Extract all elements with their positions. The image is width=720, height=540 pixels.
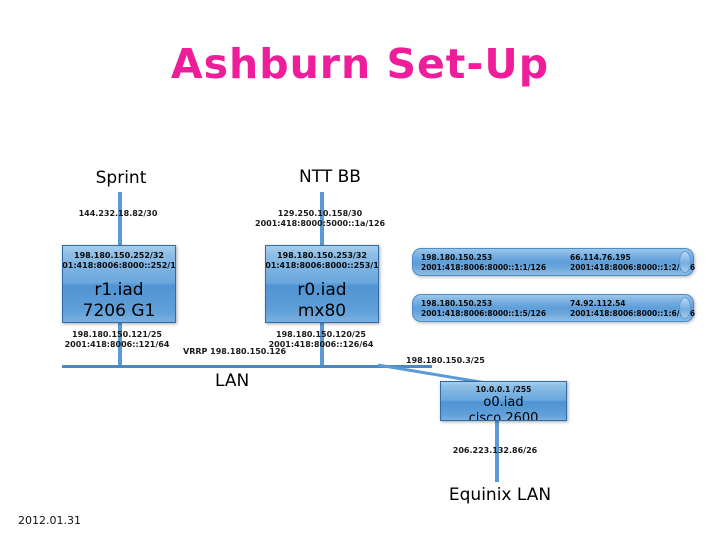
page-title: Ashburn Set-Up [0,40,720,88]
uplink-ntt-ipv4: 129.250.10.158/30 [255,209,385,219]
peering-bar-2[interactable]: 198.180.150.253 2001:418:8006:8000::1:5/… [412,294,694,322]
peering-bar-1-local: 198.180.150.253 2001:418:8006:8000::1:1/… [421,253,546,273]
r1-lan-addresses: 198.180.150.121/25 2001:418:8006::121/64 [52,330,182,350]
o0-mgmt-address: 10.0.0.1 /255 [476,385,532,395]
o0-name: o0.iad [483,395,523,411]
router-box-o0-iad[interactable]: 10.0.0.1 /255 o0.iad cisco 2600 [440,381,567,421]
peering-1-local-v4: 198.180.150.253 [421,253,546,263]
router-box-r0-iad[interactable]: 198.180.150.253/32 2001:418:8006:8000::2… [265,245,379,323]
provider-label-ntt: NTT BB [270,167,390,187]
o0-model: cisco 2600 [469,411,539,421]
peering-1-remote-v4: 66.114.76.195 [570,253,695,263]
r0-loopback-v6: 2001:418:8006:8000::253/128 [265,261,379,271]
r1-lan-v4: 198.180.150.121/25 [52,330,182,340]
peering-2-remote-v6: 2001:418:8006:8000::1:6/126 [570,309,695,319]
equinix-uplink-label: 206.223.132.86/26 [440,446,550,456]
r1-name: r1.iad [94,280,143,301]
oob-link-label: 198.180.150.3/25 [406,356,516,366]
r0-model: mx80 [298,301,346,322]
uplink-label-sprint: 144.232.18.82/30 [53,209,183,219]
uplink-ntt-ipv6: 2001:418:8000:5000::1a/126 [255,219,385,229]
vrrp-label: VRRP 198.180.150.126 [183,347,333,357]
footer-date: 2012.01.31 [18,514,81,527]
peering-1-remote-v6: 2001:418:8006:8000::1:2/126 [570,263,695,273]
lan-bus-line [62,365,432,368]
peering-bar-1-remote: 66.114.76.195 2001:418:8006:8000::1:2/12… [570,253,695,273]
provider-label-equinix: Equinix LAN [440,485,560,505]
uplink-label-ntt: 129.250.10.158/30 2001:418:8000:5000::1a… [255,209,385,229]
peering-bar-2-end-cap [679,297,691,319]
r0-loopback-v4: 198.180.150.253/32 [277,251,367,261]
peering-2-local-v4: 198.180.150.253 [421,299,546,309]
peering-1-local-v6: 2001:418:8006:8000::1:1/126 [421,263,546,273]
r1-loopback-v6: 2001:418:8006:8000::252/128 [62,261,176,271]
link-sprint-to-r1 [118,192,122,247]
lan-label: LAN [215,371,249,391]
peering-bar-2-local: 198.180.150.253 2001:418:8006:8000::1:5/… [421,299,546,319]
r0-lan-v4: 198.180.150.120/25 [256,330,386,340]
peering-bar-1[interactable]: 198.180.150.253 2001:418:8006:8000::1:1/… [412,248,694,276]
peering-bar-1-end-cap [679,251,691,273]
r1-lan-v6: 2001:418:8006::121/64 [52,340,182,350]
provider-label-sprint: Sprint [66,168,176,188]
peering-2-remote-v4: 74.92.112.54 [570,299,695,309]
peering-2-local-v6: 2001:418:8006:8000::1:5/126 [421,309,546,319]
slide-canvas: Ashburn Set-Up Sprint NTT BB Equinix LAN… [0,0,720,540]
router-box-r1-iad[interactable]: 198.180.150.252/32 2001:418:8006:8000::2… [62,245,176,323]
r0-name: r0.iad [297,280,346,301]
peering-bar-2-remote: 74.92.112.54 2001:418:8006:8000::1:6/126 [570,299,695,319]
r1-model: 7206 G1 [83,301,156,322]
uplink-sprint-ipv4: 144.232.18.82/30 [53,209,183,219]
r1-loopback-v4: 198.180.150.252/32 [74,251,164,261]
